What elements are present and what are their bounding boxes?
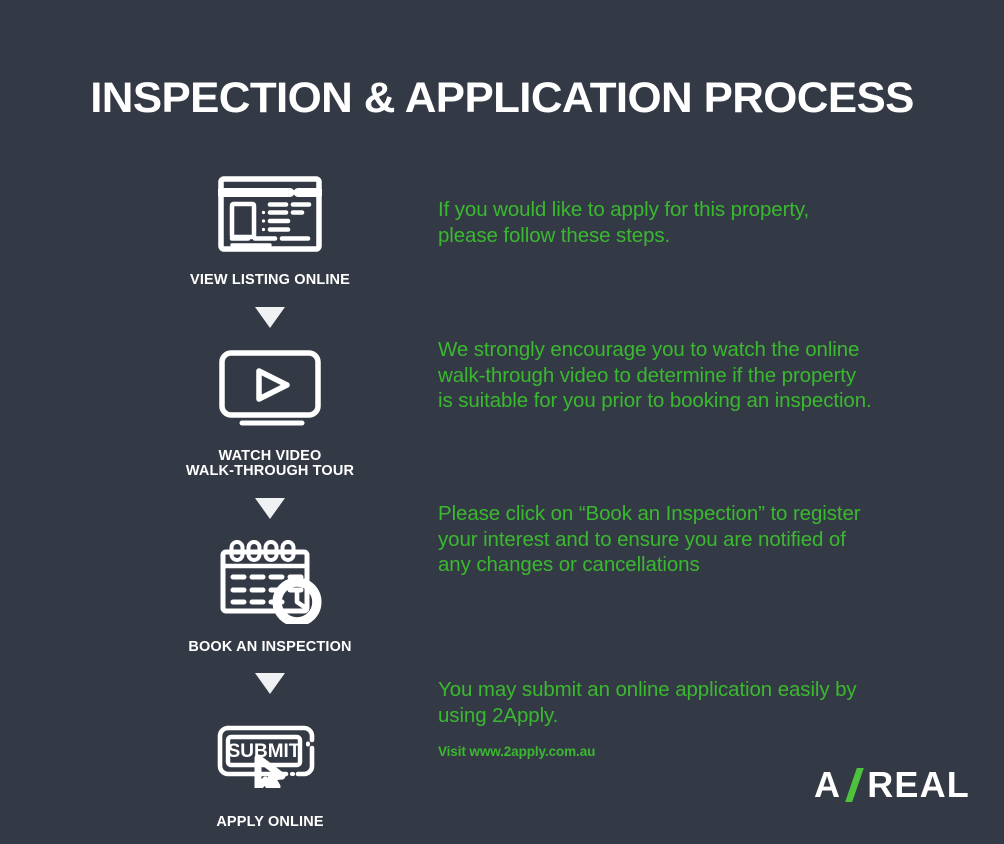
step-label-apply-online: APPLY ONLINE <box>150 815 390 831</box>
down-arrow-3 <box>150 673 390 694</box>
step-label-watch-video: WATCH VIDEO WALK-THROUGH TOUR <box>150 449 390 480</box>
submit-button-cursor-icon: SUBMIT <box>150 710 390 802</box>
down-arrow-2 <box>150 498 390 519</box>
copy-book-inspection: Please click on “Book an Inspection” to … <box>438 501 908 578</box>
logo-slash-icon <box>844 768 866 802</box>
inspection-application-process-poster: INSPECTION & APPLICATION PROCESS <box>0 0 1004 844</box>
video-play-monitor-icon <box>150 344 390 436</box>
step-view-listing-online: VIEW LISTING ONLINE <box>150 168 390 289</box>
step-apply-online: SUBMIT APPLY ONLINE <box>150 710 390 831</box>
page-title: INSPECTION & APPLICATION PROCESS <box>0 74 1004 123</box>
copy-apply-online: You may submit an online application eas… <box>438 677 908 728</box>
copy-watch-video: We strongly encourage you to watch the o… <box>438 337 908 414</box>
calendar-clock-icon <box>150 535 390 627</box>
step-watch-video: WATCH VIDEO WALK-THROUGH TOUR <box>150 344 390 480</box>
step-label-view-listing-online: VIEW LISTING ONLINE <box>150 273 390 289</box>
step-book-inspection: BOOK AN INSPECTION <box>150 535 390 656</box>
steps-column: VIEW LISTING ONLINE WATCH VIDEO WALK-THR… <box>150 168 390 831</box>
browser-listing-icon <box>150 168 390 260</box>
copy-view-listing: If you would like to apply for this prop… <box>438 197 908 248</box>
brand-logo: A REAL <box>814 766 970 804</box>
down-arrow-1 <box>150 307 390 328</box>
logo-letter-a: A <box>814 767 841 803</box>
visit-url-text[interactable]: Visit www.2apply.com.au <box>438 744 595 759</box>
logo-word-real: REAL <box>867 767 970 803</box>
step-label-book-inspection: BOOK AN INSPECTION <box>150 640 390 656</box>
